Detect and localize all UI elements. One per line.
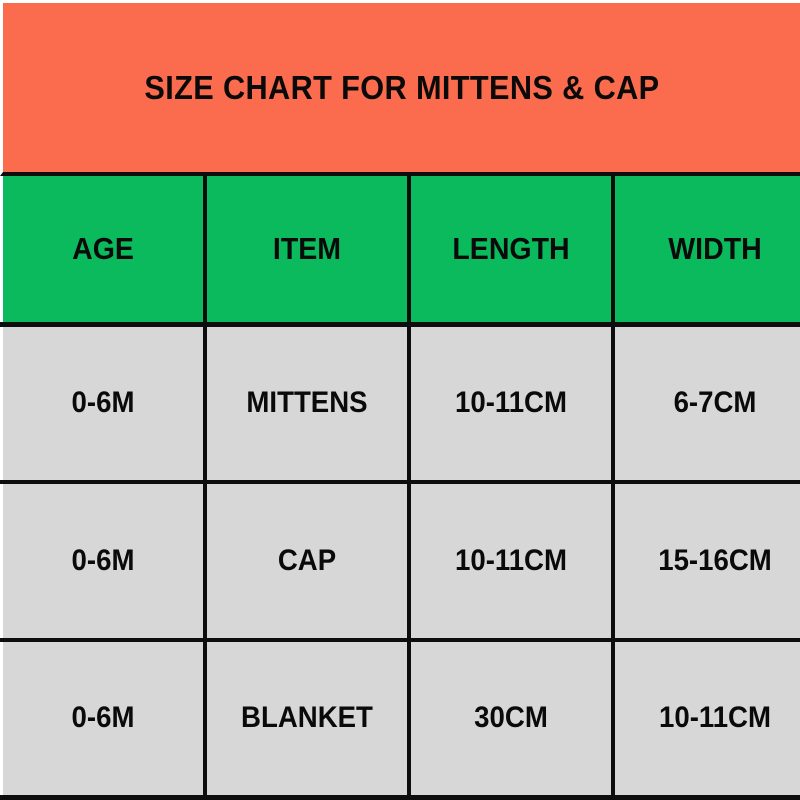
cell-age: 0-6M [2, 640, 206, 798]
table-row: 0-6M CAP 10-11CM 15-16CM [2, 482, 800, 640]
cell-item-value: CAP [215, 546, 399, 576]
cell-item: MITTENS [205, 324, 409, 482]
cell-length: 10-11CM [409, 324, 613, 482]
cell-item: CAP [205, 482, 409, 640]
column-header-length-label: LENGTH [419, 233, 603, 264]
column-header-age: AGE [2, 176, 206, 324]
cell-age: 0-6M [2, 482, 206, 640]
table-row: 0-6M MITTENS 10-11CM 6-7CM [2, 324, 800, 482]
table-header-row: AGE ITEM LENGTH WIDTH [2, 176, 800, 324]
cell-item-value: BLANKET [215, 703, 399, 733]
column-header-age-label: AGE [11, 233, 195, 264]
cell-length-value: 10-11CM [419, 388, 603, 418]
cell-width: 10-11CM [613, 640, 800, 798]
cell-age-value: 0-6M [11, 703, 195, 733]
size-chart-table: AGE ITEM LENGTH WIDTH 0-6M MITTENS [0, 176, 800, 800]
cell-age: 0-6M [2, 324, 206, 482]
cell-item: BLANKET [205, 640, 409, 798]
cell-length-value: 30CM [419, 703, 603, 733]
column-header-item-label: ITEM [215, 233, 399, 264]
cell-age-value: 0-6M [11, 546, 195, 576]
cell-age-value: 0-6M [11, 388, 195, 418]
table-body: 0-6M MITTENS 10-11CM 6-7CM 0-6M CAP [2, 324, 800, 798]
cell-length: 30CM [409, 640, 613, 798]
cell-length: 10-11CM [409, 482, 613, 640]
size-chart-root: SIZE CHART FOR MITTENS & CAP AGE ITEM LE… [0, 0, 800, 800]
cell-width-value: 6-7CM [623, 388, 800, 418]
page-title: SIZE CHART FOR MITTENS & CAP [144, 71, 659, 104]
cell-width: 15-16CM [613, 482, 800, 640]
column-header-length: LENGTH [409, 176, 613, 324]
table-head: AGE ITEM LENGTH WIDTH [2, 176, 800, 324]
chart-title-banner: SIZE CHART FOR MITTENS & CAP [0, 0, 800, 176]
column-header-width-label: WIDTH [623, 233, 800, 264]
cell-width: 6-7CM [613, 324, 800, 482]
column-header-item: ITEM [205, 176, 409, 324]
cell-item-value: MITTENS [215, 388, 399, 418]
cell-width-value: 10-11CM [623, 703, 800, 733]
cell-length-value: 10-11CM [419, 546, 603, 576]
column-header-width: WIDTH [613, 176, 800, 324]
cell-width-value: 15-16CM [623, 546, 800, 576]
table-row: 0-6M BLANKET 30CM 10-11CM [2, 640, 800, 798]
